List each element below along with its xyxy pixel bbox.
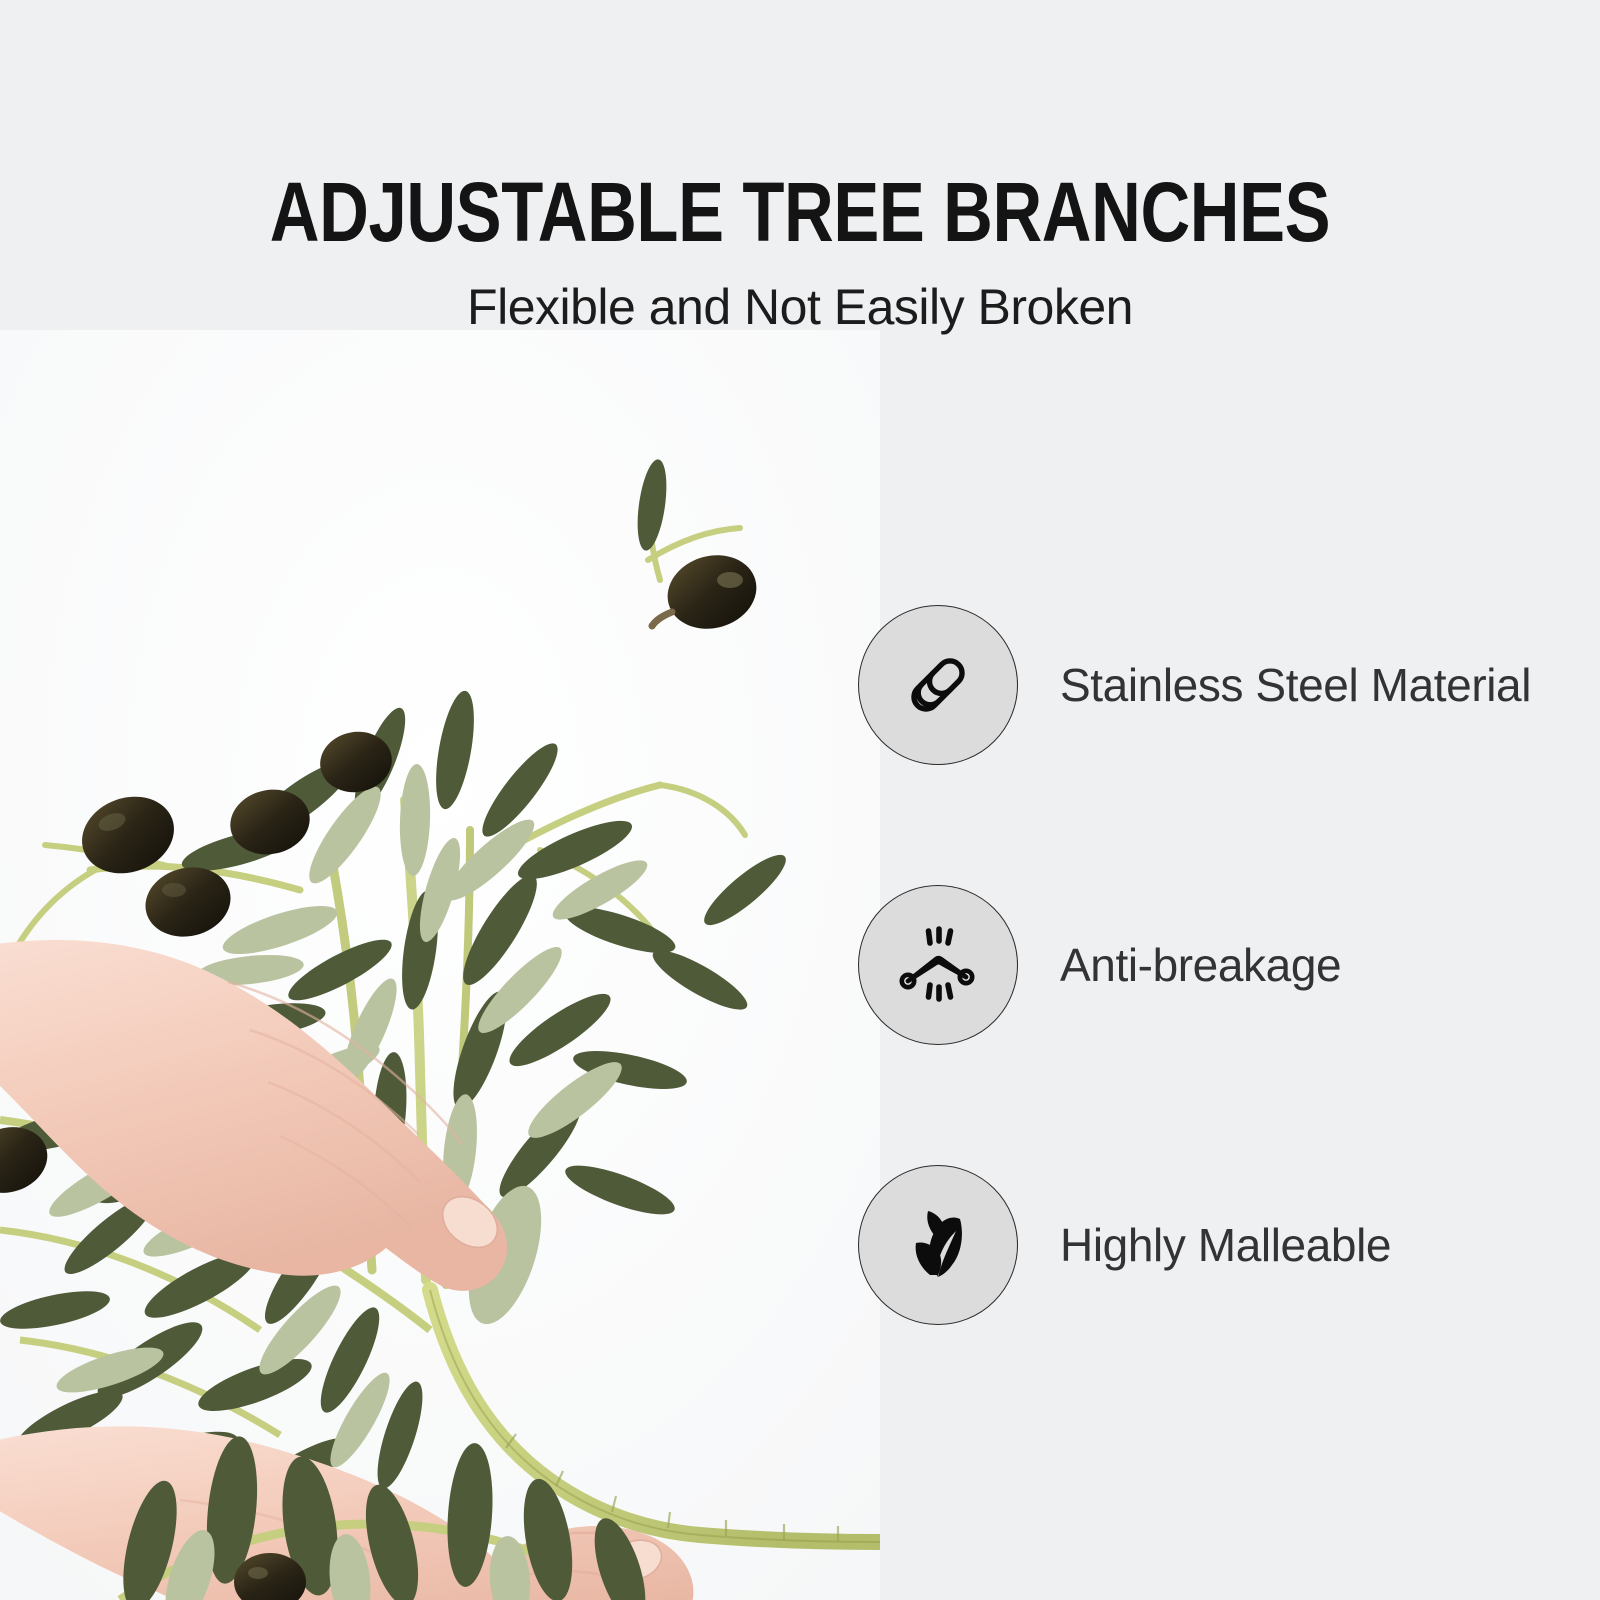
feature-label: Stainless Steel Material [1060, 658, 1531, 712]
bent-rod-impact-icon [896, 923, 980, 1007]
product-photo [0, 330, 880, 1600]
feature-icon-badge [858, 1165, 1018, 1325]
feature-icon-badge [858, 885, 1018, 1045]
leaves-icon [898, 1205, 978, 1285]
feature-icon-badge [858, 605, 1018, 765]
feature-item-stainless-steel: Stainless Steel Material [858, 605, 1578, 765]
feature-label: Anti-breakage [1060, 938, 1341, 992]
page-subtitle: Flexible and Not Easily Broken [0, 278, 1600, 336]
feature-item-highly-malleable: Highly Malleable [858, 1165, 1578, 1325]
feature-label: Highly Malleable [1060, 1218, 1391, 1272]
product-feature-graphic: ADJUSTABLE TREE BRANCHES Flexible and No… [0, 0, 1600, 1600]
feature-item-anti-breakage: Anti-breakage [858, 885, 1578, 1045]
page-title: ADJUSTABLE TREE BRANCHES [144, 170, 1456, 254]
feature-list: Stainless Steel Material [858, 605, 1578, 1325]
header-block: ADJUSTABLE TREE BRANCHES Flexible and No… [0, 170, 1600, 336]
steel-bar-icon [899, 646, 977, 724]
